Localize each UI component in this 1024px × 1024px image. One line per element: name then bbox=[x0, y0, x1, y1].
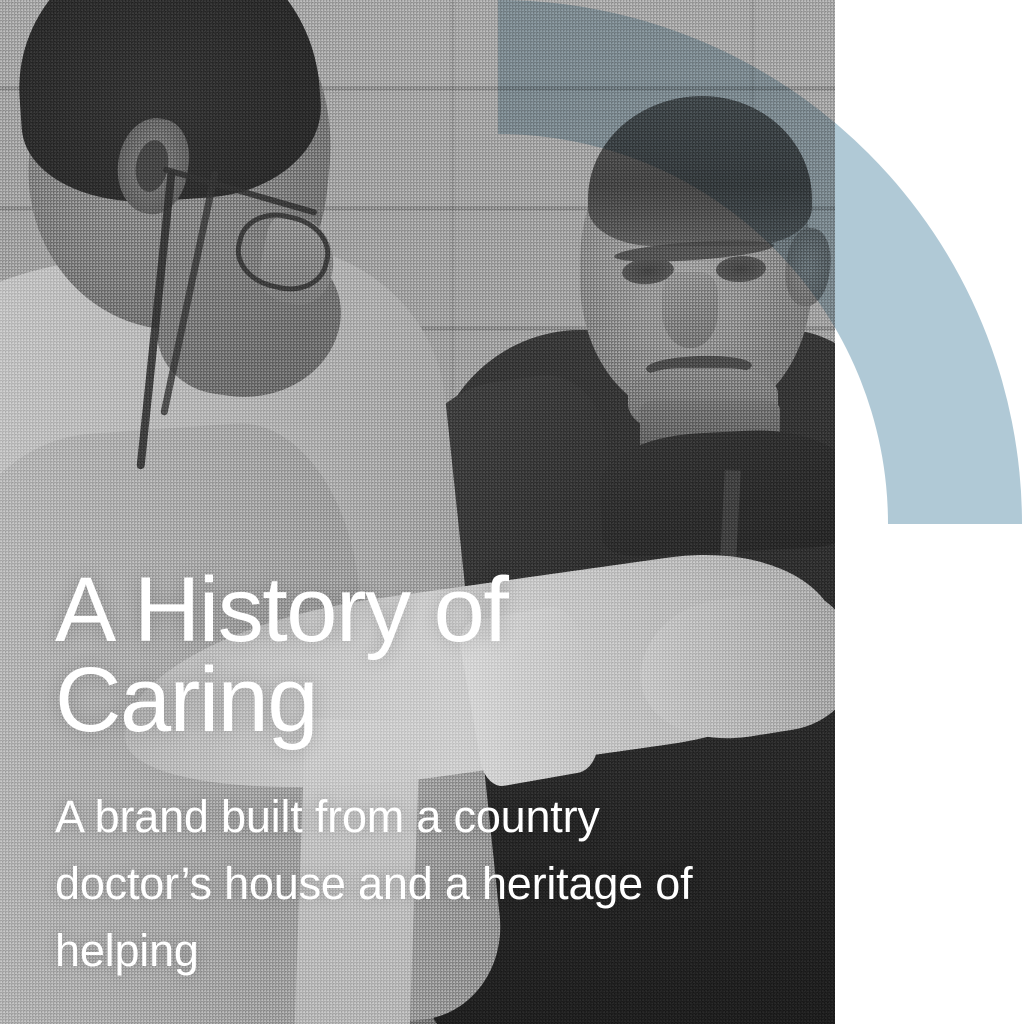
patient-nose bbox=[662, 272, 718, 348]
text-block: A History of Caring A brand built from a… bbox=[55, 565, 775, 984]
slide-canvas: A History of Caring A brand built from a… bbox=[0, 0, 1024, 1024]
page-title: A History of Caring bbox=[55, 565, 775, 745]
page-subtitle: A brand built from a country doctor’s ho… bbox=[55, 745, 745, 984]
